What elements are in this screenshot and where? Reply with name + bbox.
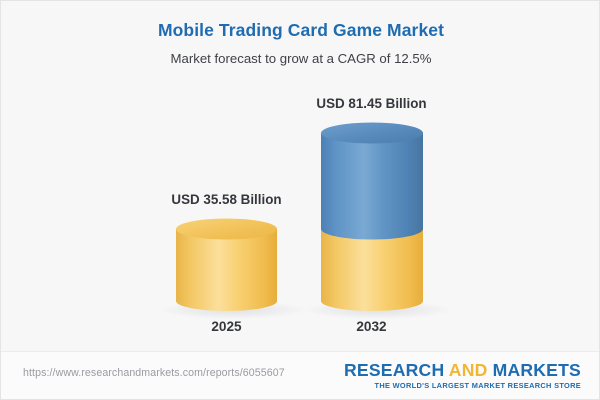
brand-logo-tagline: THE WORLD'S LARGEST MARKET RESEARCH STOR…: [344, 381, 581, 390]
bar-value-label-2032: USD 81.45 Billion: [261, 96, 482, 111]
source-url[interactable]: https://www.researchandmarkets.com/repor…: [23, 367, 285, 379]
infographic-card: Mobile Trading Card Game Market Market f…: [0, 0, 600, 400]
brand-logo[interactable]: RESEARCH AND MARKETS THE WORLD'S LARGEST…: [344, 361, 581, 390]
brand-logo-word-markets: MARKETS: [488, 360, 581, 380]
bar-value-label-2025: USD 35.58 Billion: [116, 192, 337, 207]
brand-logo-wordmark: RESEARCH AND MARKETS: [344, 361, 581, 380]
cylinder-bars-graphic: [1, 1, 600, 353]
bar-group-2032: USD 81.45 Billion 2032: [321, 1, 423, 353]
brand-logo-word-research: RESEARCH: [344, 360, 449, 380]
chart-footer: https://www.researchandmarkets.com/repor…: [1, 351, 600, 399]
bar-category-label-2032: 2032: [281, 319, 462, 334]
bar-group-2025: USD 35.58 Billion 2025: [176, 1, 277, 353]
chart-plot-area: USD 35.58 Billion 2025 USD 81.45 Billion…: [1, 1, 600, 353]
brand-logo-word-and: AND: [449, 360, 488, 380]
